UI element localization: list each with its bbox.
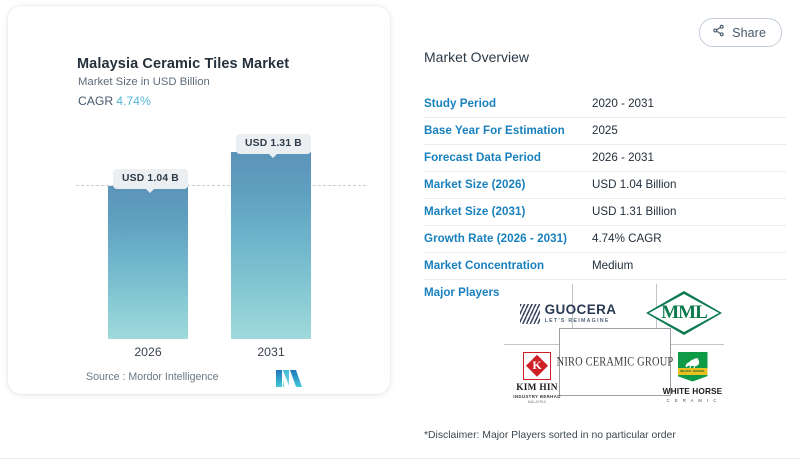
table-row: Growth Rate (2026 - 2031) 4.74% CAGR	[424, 225, 786, 252]
row-value: Medium	[592, 252, 786, 279]
table-row: Market Size (2031) USD 1.31 Billion	[424, 198, 786, 225]
row-value: 2025	[592, 117, 786, 144]
bar-2031[interactable]	[231, 152, 311, 339]
bar-label-2026: USD 1.04 B	[113, 169, 188, 189]
guocera-name: GUOCERA	[545, 303, 617, 317]
table-row: Study Period 2020 - 2031	[424, 90, 786, 117]
table-row: Forecast Data Period 2026 - 2031	[424, 144, 786, 171]
overview-title: Market Overview	[424, 49, 529, 65]
guocera-mark-icon	[520, 304, 540, 324]
bar-label-2031: USD 1.31 B	[236, 134, 311, 154]
white-horse-name: WHITE HORSE	[663, 386, 723, 396]
row-key: Study Period	[424, 90, 592, 117]
row-key: Growth Rate (2026 - 2031)	[424, 225, 592, 252]
white-horse-tagline: C E R A M I C	[667, 398, 719, 403]
row-value: USD 1.04 Billion	[592, 171, 786, 198]
market-report-widget: Share Malaysia Ceramic Tiles Market Mark…	[0, 0, 800, 459]
kim-hin-mark-icon: K	[523, 352, 551, 380]
table-row: Market Concentration Medium	[424, 252, 786, 279]
overview-table: Study Period 2020 - 2031 Base Year For E…	[424, 90, 786, 306]
white-horse-mark-icon: WHITE HORSE	[678, 352, 708, 382]
white-horse-band: WHITE HORSE	[678, 368, 708, 375]
player-logo-kim-hin: K KIM HIN INDUSTRY BERHAD MALAYSIA	[506, 348, 568, 408]
x-tick-2026: 2026	[108, 345, 188, 359]
row-key: Market Size (2031)	[424, 198, 592, 225]
row-key: Market Concentration	[424, 252, 592, 279]
niro-name: NIRO CERAMIC GROUP	[557, 355, 674, 369]
player-logo-niro-ceramic-group: NIRO CERAMIC GROUP	[559, 328, 671, 396]
market-overview-panel: Market Overview Study Period 2020 - 2031…	[424, 6, 786, 454]
share-button-label: Share	[732, 26, 766, 40]
chart-card: Malaysia Ceramic Tiles Market Market Siz…	[8, 6, 390, 394]
row-value: 4.74% CAGR	[592, 225, 786, 252]
mml-name: MML	[661, 302, 707, 324]
share-button[interactable]: Share	[699, 18, 782, 47]
kim-hin-tagline-2: MALAYSIA	[528, 400, 546, 404]
table-row: Market Size (2026) USD 1.04 Billion	[424, 171, 786, 198]
chart-source: Source : Mordor Intelligence	[86, 371, 219, 383]
white-horse-band-text: WHITE HORSE	[680, 369, 704, 373]
player-logo-white-horse: WHITE HORSE WHITE HORSE C E R A M I C	[661, 346, 724, 408]
players-disclaimer: *Disclaimer: Major Players sorted in no …	[424, 430, 676, 441]
kim-hin-name: KIM HIN	[516, 383, 558, 393]
row-key: Forecast Data Period	[424, 144, 592, 171]
row-key: Market Size (2026)	[424, 171, 592, 198]
kim-hin-tagline: INDUSTRY BERHAD	[513, 394, 560, 399]
guocera-tagline: LET'S REIMAGINE	[545, 319, 617, 324]
bar-2026[interactable]	[108, 186, 188, 339]
bar-chart-plot: USD 1.04 B USD 1.31 B 2026 2031	[8, 6, 390, 394]
table-row: Base Year For Estimation 2025	[424, 117, 786, 144]
row-value: 2026 - 2031	[592, 144, 786, 171]
mordor-intelligence-logo	[276, 369, 302, 392]
row-key: Base Year For Estimation	[424, 117, 592, 144]
x-tick-2031: 2031	[231, 345, 311, 359]
row-value: 2020 - 2031	[592, 90, 786, 117]
major-players-collage: GUOCERA LET'S REIMAGINE MML NIRO CERAMIC…	[504, 284, 724, 412]
share-icon	[712, 24, 725, 42]
row-value: USD 1.31 Billion	[592, 198, 786, 225]
